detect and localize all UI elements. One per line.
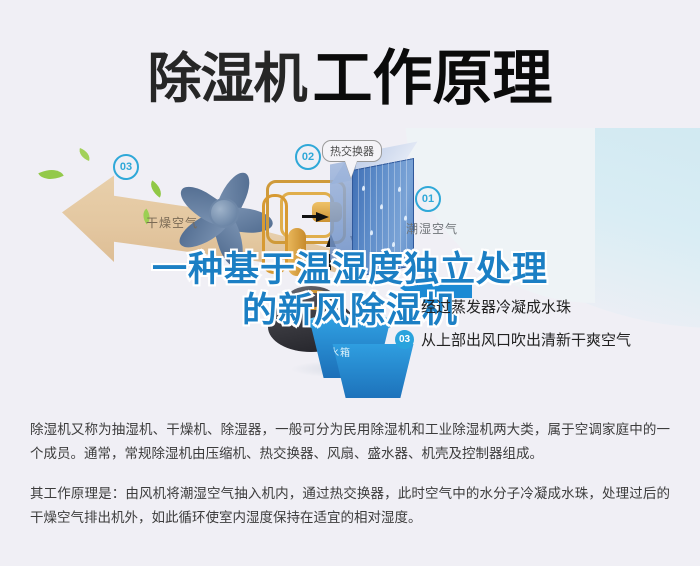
leaf-icon [38,164,63,185]
humid-air-intake-arrow [400,278,472,298]
badge-02: 02 [295,144,321,170]
badge-01: 01 [415,186,441,212]
leaf-icon [147,180,166,197]
body-copy: 除湿机又称为抽湿机、干燥机、除湿器，一般可分为民用除湿机和工业除湿机两大类，属于… [30,418,670,546]
page-title-part1: 除湿机 [148,47,307,110]
flow-arrow-right-icon [316,212,329,222]
step-caption-list: 02 经过蒸发器冷凝成水珠 03 从上部出风口吹出清新干爽空气 [395,296,695,362]
leaf-icon [77,148,92,161]
step-text-02: 经过蒸发器冷凝成水珠 [421,296,571,317]
page-root: 除湿机工作原理 [0,0,700,566]
humid-air-flow-inner [405,128,595,303]
body-paragraph-1: 除湿机又称为抽湿机、干燥机、除湿器，一般可分为民用除湿机和工业除湿机两大类，属于… [30,418,670,466]
page-title-part2: 工作原理 [313,44,553,114]
step-number-03: 03 [395,330,414,349]
compressor-ring [292,290,336,310]
heat-exchanger-fins [352,158,414,278]
page-title: 除湿机工作原理 [0,30,700,117]
badge-03: 03 [113,154,139,180]
dry-air-label: 干燥空气 [146,214,198,231]
step-text-03: 从上部出风口吹出清新干爽空气 [421,329,631,350]
step-caption-02: 02 经过蒸发器冷凝成水珠 [395,296,695,317]
heat-exchanger-callout: 热交换器 [322,140,382,162]
humid-air-label: 潮湿空气 [406,220,458,237]
step-caption-03: 03 从上部出风口吹出清新干爽空气 [395,329,695,350]
body-paragraph-2: 其工作原理是：由风机将潮湿空气抽入机内，通过热交换器，此时空气中的水分子冷凝成水… [30,482,670,530]
